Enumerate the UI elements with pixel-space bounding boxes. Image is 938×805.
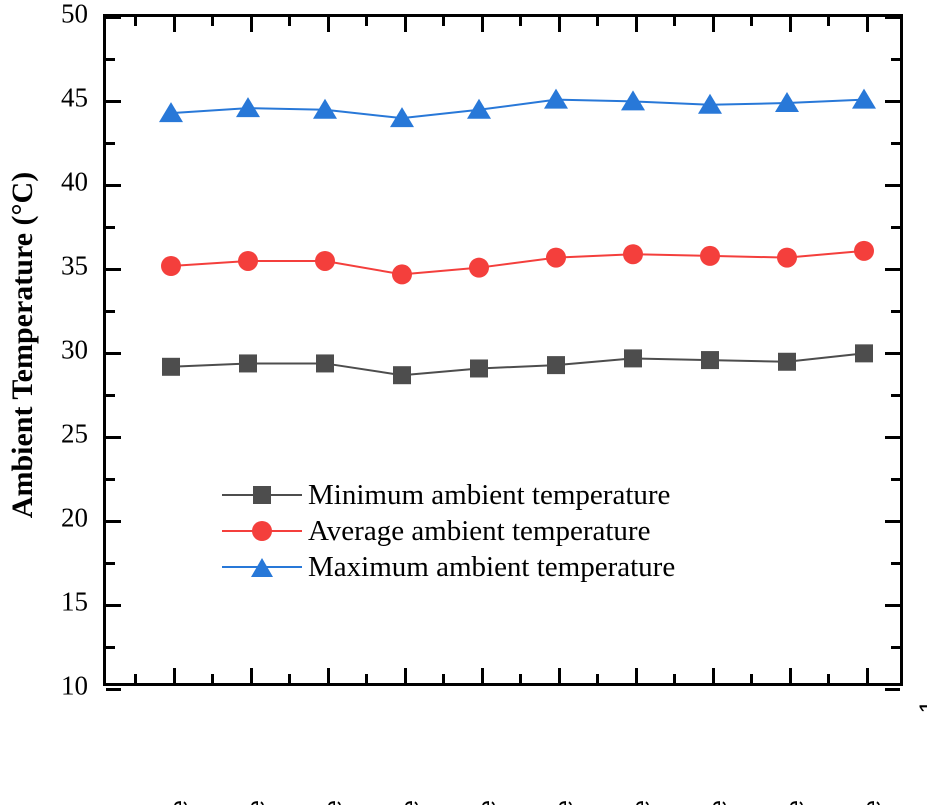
x-axis-tick-major — [250, 17, 253, 32]
x-axis-tick-major — [866, 17, 869, 32]
x-axis-tick-major — [635, 17, 638, 32]
y-axis-tick-major — [106, 352, 121, 355]
x-axis-tick-minor — [288, 674, 291, 683]
y-axis-tick-major — [885, 268, 900, 271]
y-axis-tick-label: 25 — [42, 421, 88, 448]
y-axis-tick-minor — [891, 394, 900, 397]
y-axis-tick-label: 15 — [42, 589, 88, 616]
y-axis-tick-label: 30 — [42, 337, 88, 364]
y-axis-tick-major — [885, 352, 900, 355]
x-axis-tick-minor — [750, 17, 753, 26]
y-axis-tick-major — [106, 604, 121, 607]
x-axis-tick-minor — [827, 674, 830, 683]
x-axis-tick-label: 10 June — [861, 800, 885, 805]
x-axis-tick-label: 6 June — [553, 800, 577, 805]
x-axis-tick-major — [789, 17, 792, 32]
legend-marker-square — [253, 486, 271, 504]
y-axis-title-text: Ambient Temperature (°C) — [6, 172, 40, 518]
legend-key — [222, 480, 302, 510]
x-axis-tick-major — [866, 668, 869, 683]
y-axis-tick-minor — [106, 646, 115, 649]
legend-item: Minimum ambient temperature — [222, 477, 782, 513]
x-axis-tick-label: 2 June — [245, 800, 269, 805]
y-axis-tick-major — [885, 520, 900, 523]
legend-item: Average ambient temperature — [222, 513, 782, 549]
x-axis-tick-major — [481, 17, 484, 32]
x-axis-tick-major — [404, 668, 407, 683]
x-axis-tick-minor — [288, 17, 291, 26]
y-axis-tick-minor — [106, 562, 115, 565]
legend-label: Minimum ambient temperature — [302, 479, 670, 512]
x-axis-tick-minor — [134, 17, 137, 26]
y-axis-tick-label: 10 — [42, 673, 88, 700]
x-axis-tick-major — [558, 17, 561, 32]
x-axis-tick-minor — [442, 17, 445, 26]
x-axis-tick-major — [635, 668, 638, 683]
y-axis-tick-label: 45 — [42, 85, 88, 112]
y-axis-tick-major — [885, 184, 900, 187]
x-axis-tick-major — [558, 668, 561, 683]
legend-label: Maximum ambient temperature — [302, 551, 675, 584]
y-axis-tick-minor — [106, 478, 115, 481]
y-axis-tick-minor — [891, 142, 900, 145]
x-axis-tick-major — [404, 17, 407, 32]
y-axis-tick-label: 50 — [42, 1, 88, 28]
x-axis-tick-label-clipped-text: 1 — [917, 700, 927, 713]
y-axis-tick-minor — [891, 310, 900, 313]
y-axis-tick-major — [106, 184, 121, 187]
x-axis-tick-major — [712, 17, 715, 32]
x-axis-tick-label: 3 June — [322, 800, 346, 805]
x-axis-tick-major — [789, 668, 792, 683]
y-axis-tick-major — [885, 604, 900, 607]
legend-label: Average ambient temperature — [302, 515, 650, 548]
x-axis-tick-label-clipped: 1 — [917, 700, 927, 734]
x-axis-tick-minor — [673, 674, 676, 683]
x-axis-tick-minor — [211, 674, 214, 683]
legend-marker-triangle — [251, 558, 273, 577]
y-axis-tick-minor — [891, 562, 900, 565]
y-axis-tick-major — [106, 520, 121, 523]
y-axis-tick-minor — [106, 142, 115, 145]
x-axis-tick-major — [481, 668, 484, 683]
x-axis-tick-minor — [596, 674, 599, 683]
x-axis-tick-minor — [673, 17, 676, 26]
chart-legend: Minimum ambient temperatureAverage ambie… — [222, 477, 782, 585]
y-axis-tick-major — [885, 100, 900, 103]
x-axis-tick-major — [327, 17, 330, 32]
x-axis-tick-major — [712, 668, 715, 683]
x-axis-tick-minor — [596, 17, 599, 26]
y-axis-tick-minor — [891, 478, 900, 481]
chart-canvas: Ambient Temperature (°C) 504540353025201… — [0, 0, 938, 805]
y-axis-tick-minor — [891, 58, 900, 61]
y-axis-tick-minor — [106, 226, 115, 229]
y-axis-tick-major — [885, 436, 900, 439]
x-axis-tick-minor — [134, 674, 137, 683]
x-axis-tick-label: 9 June — [784, 800, 808, 805]
legend-key — [222, 552, 302, 582]
x-axis-tick-minor — [211, 17, 214, 26]
y-axis-tick-minor — [106, 58, 115, 61]
y-axis-tick-minor — [106, 394, 115, 397]
x-axis-tick-labels: 1 June2 June3 June4 June5 June6 June7 Ju… — [103, 690, 903, 805]
x-axis-tick-minor — [365, 17, 368, 26]
y-axis-tick-major — [106, 16, 121, 19]
legend-item: Maximum ambient temperature — [222, 549, 782, 585]
x-axis-tick-minor — [750, 674, 753, 683]
y-axis-tick-labels: 504540353025201510 — [40, 0, 88, 805]
y-axis-tick-major — [106, 268, 121, 271]
x-axis-tick-major — [327, 668, 330, 683]
legend-marker-circle — [252, 521, 272, 541]
y-axis-tick-minor — [891, 226, 900, 229]
y-axis-tick-minor — [891, 646, 900, 649]
x-axis-tick-label: 7 June — [630, 800, 654, 805]
legend-key — [222, 516, 302, 546]
y-axis-tick-label: 35 — [42, 253, 88, 280]
y-axis-tick-label: 20 — [42, 505, 88, 532]
x-axis-tick-label: 1 June — [168, 800, 192, 805]
x-axis-tick-major — [173, 668, 176, 683]
x-axis-tick-minor — [365, 674, 368, 683]
plot-area-frame — [103, 14, 903, 686]
y-axis-tick-minor — [106, 310, 115, 313]
y-axis-tick-major — [106, 100, 121, 103]
x-axis-tick-label: 5 June — [476, 800, 500, 805]
y-axis-tick-label: 40 — [42, 169, 88, 196]
x-axis-tick-label: 8 June — [707, 800, 731, 805]
x-axis-tick-major — [173, 17, 176, 32]
x-axis-tick-minor — [827, 17, 830, 26]
y-axis-tick-major — [106, 436, 121, 439]
y-axis-tick-major — [885, 16, 900, 19]
x-axis-tick-minor — [442, 674, 445, 683]
x-axis-tick-major — [250, 668, 253, 683]
x-axis-tick-minor — [519, 17, 522, 26]
x-axis-tick-label: 4 June — [399, 800, 423, 805]
x-axis-tick-minor — [519, 674, 522, 683]
